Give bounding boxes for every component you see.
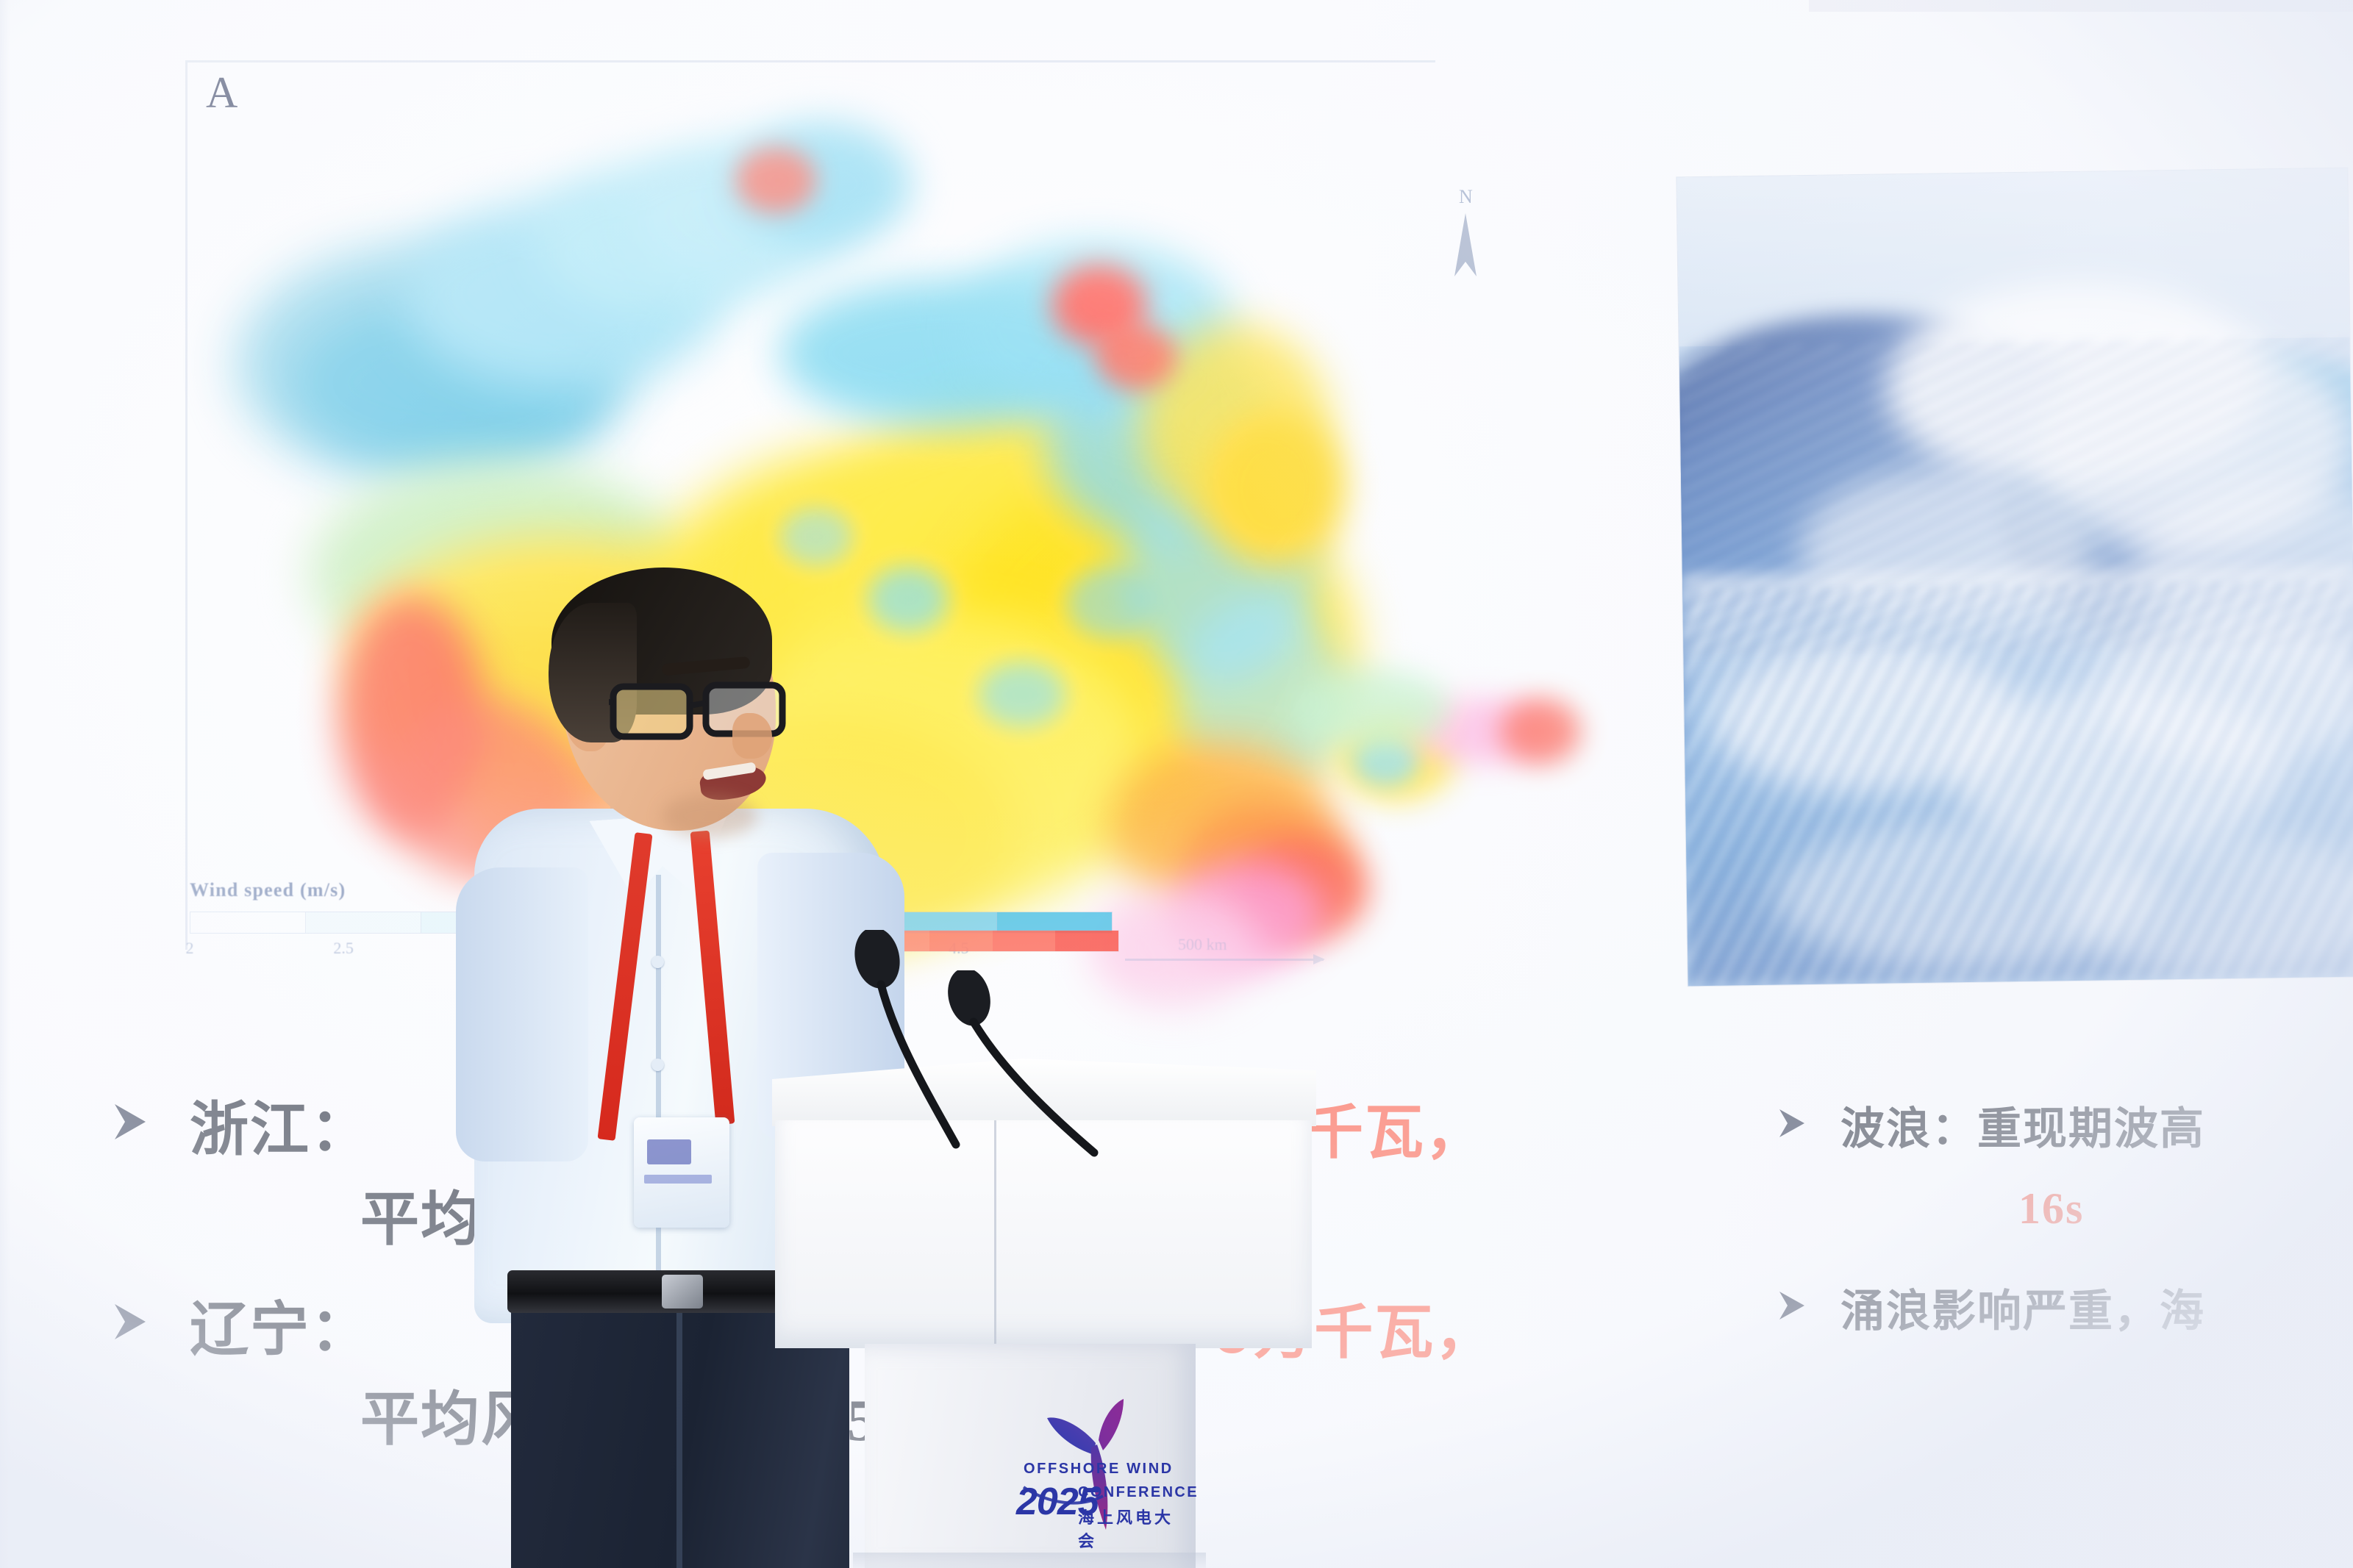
legend-tick: 2 <box>113 939 266 958</box>
bullet-liaoning: 辽宁： <box>110 1286 371 1373</box>
bullet-wave-period: 16s <box>2018 1175 2084 1242</box>
slide-left-edge <box>0 0 10 1568</box>
arrow-bullet-icon <box>110 1100 149 1144</box>
ocean-wave-photo <box>1677 168 2353 987</box>
conference-badge <box>634 1117 729 1228</box>
scale-bar-line <box>1125 959 1324 961</box>
logo-line-conference: CONFERENCE <box>1078 1484 1199 1501</box>
bullet-swell: 涌浪影响严重，海 <box>1776 1278 2205 1345</box>
bullet-zhejiang-label: 浙江： <box>190 1086 371 1173</box>
bullet-wave: 波浪：重现期波高 <box>1776 1095 2205 1163</box>
arrow-bullet-icon <box>1776 1106 1807 1141</box>
north-arrow-icon: N <box>1440 182 1491 293</box>
logo-chinese-name: 海上风电大会 <box>1078 1505 1182 1552</box>
svg-text:N: N <box>1459 186 1473 207</box>
bullet-wave-label: 波浪：重现期波高 <box>1840 1095 2205 1163</box>
panel-label-a: A <box>206 68 238 118</box>
microphone-icon <box>934 970 1125 1161</box>
logo-line-offshore-wind: OFFSHORE WIND <box>1024 1461 1174 1478</box>
bullet-swell-label: 涌浪影响严重，海 <box>1840 1278 2205 1345</box>
presentation-scene: A <box>0 0 2353 1568</box>
map-scale-bar: 500 km <box>1125 935 1324 961</box>
arrow-bullet-icon <box>110 1300 149 1344</box>
conference-logo: OFFSHORE WIND 2025 CONFERENCE 海上风电大会 <box>1013 1393 1182 1547</box>
slide-top-band <box>1809 0 2353 12</box>
legend-tick: 2.5 <box>267 939 421 958</box>
bullet-zhejiang: 浙江： <box>110 1086 371 1173</box>
bullet-liaoning-label: 辽宁： <box>190 1286 371 1373</box>
arrow-bullet-icon <box>1776 1288 1807 1323</box>
